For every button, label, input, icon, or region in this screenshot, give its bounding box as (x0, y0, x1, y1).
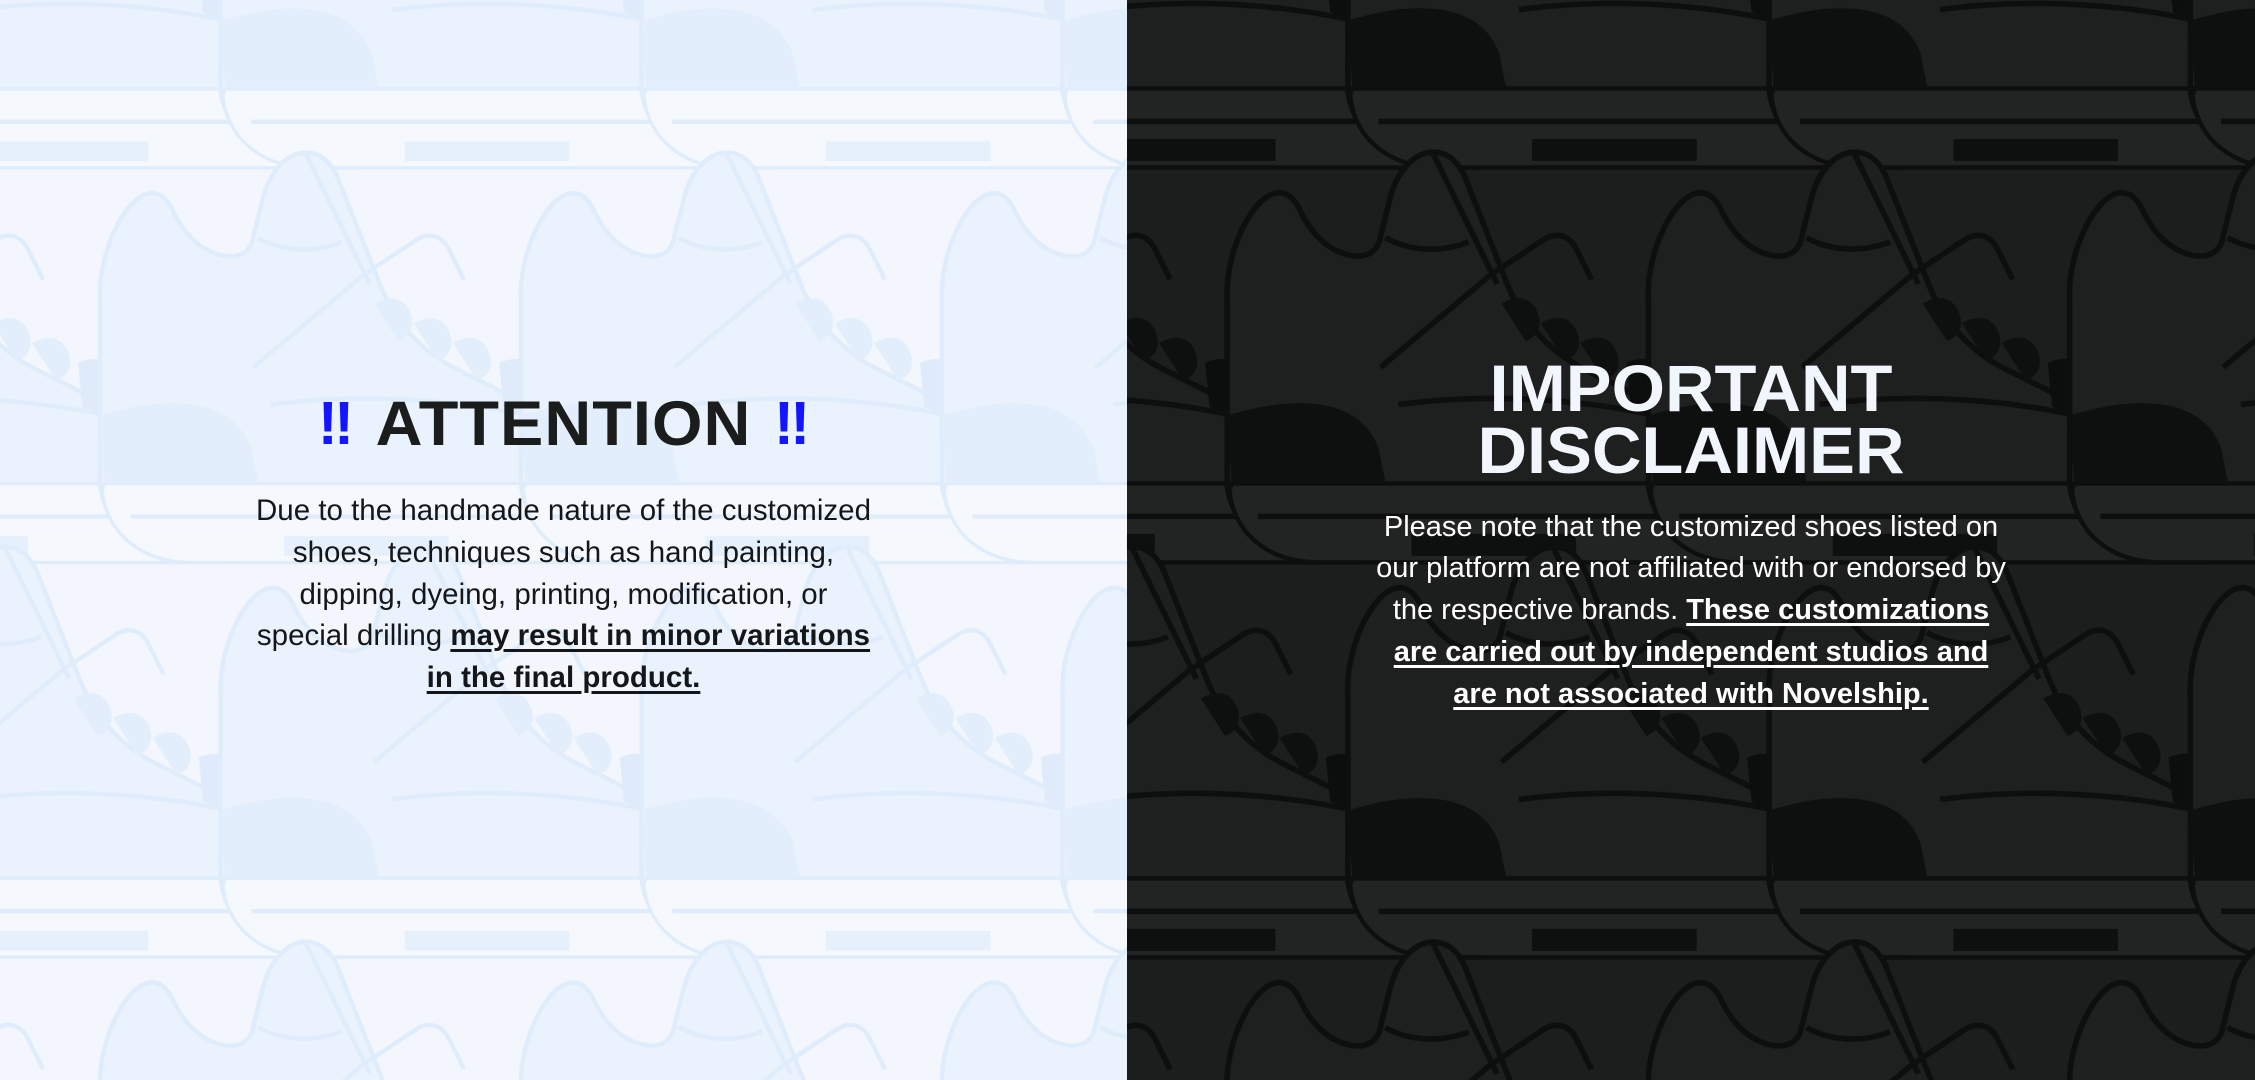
double-exclamation-left-icon: ‼ (318, 394, 353, 455)
attention-heading: ‼ ATTENTION ‼ (24, 393, 1102, 456)
disclaimer-content: IMPORTANT DISCLAIMER Please note that th… (1127, 357, 2255, 716)
disclaimer-heading-line2: DISCLAIMER (1146, 419, 2236, 481)
attention-body-emphasis: may result in minor variations in the fi… (427, 619, 870, 694)
disclaimer-heading: IMPORTANT DISCLAIMER (1146, 357, 2236, 481)
double-exclamation-right-icon: ‼ (774, 394, 809, 455)
attention-heading-word: ATTENTION (376, 393, 752, 456)
attention-panel: ‼ ATTENTION ‼ Due to the handmade nature… (0, 0, 1127, 1080)
attention-body-text: Due to the handmade nature of the custom… (254, 490, 874, 699)
attention-content: ‼ ATTENTION ‼ Due to the handmade nature… (0, 393, 1127, 699)
disclaimer-body-text: Please note that the customized shoes li… (1371, 507, 2011, 716)
promo-banner: ‼ ATTENTION ‼ Due to the handmade nature… (0, 0, 2255, 1080)
disclaimer-panel: IMPORTANT DISCLAIMER Please note that th… (1127, 0, 2255, 1080)
disclaimer-heading-line1: IMPORTANT (1146, 357, 2236, 419)
